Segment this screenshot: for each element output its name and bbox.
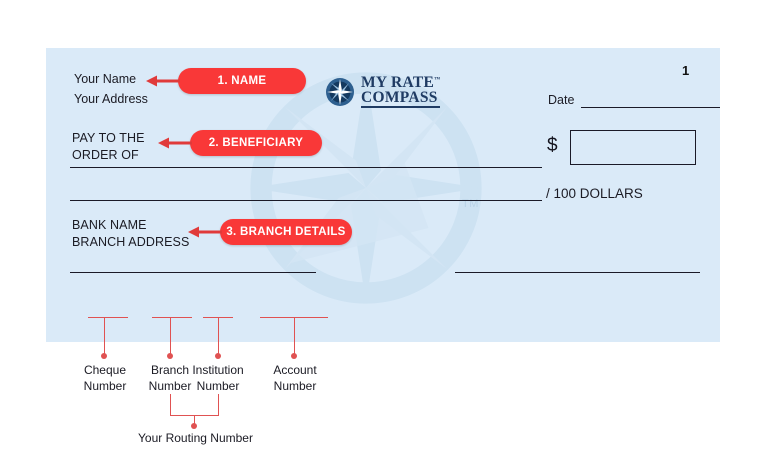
payer-address-label: Your Address [74, 92, 148, 106]
callout-beneficiary-arrow-icon [158, 136, 192, 148]
logo-tm-mark: ™ [434, 77, 440, 83]
routing-dot [191, 423, 197, 429]
payee-line [70, 167, 542, 168]
cents-dollars-label: / 100 DOLLARS [546, 186, 643, 201]
leader-underline-branch [152, 317, 192, 318]
pay-to-the-label: PAY TO THE [72, 131, 145, 145]
amount-box[interactable] [570, 130, 696, 165]
my-rate-compass-logo: MY RATE™ COMPASS [325, 75, 440, 108]
annotation-account-number-line2: Number [250, 378, 340, 394]
dollar-sign: $ [547, 135, 558, 157]
compass-rose-icon [325, 77, 355, 107]
screenshot-root: TM Your Name Your Address [0, 0, 768, 469]
leader-dot-branch [167, 353, 173, 359]
amount-words-line [70, 200, 542, 201]
payer-name-label: Your Name [74, 72, 136, 86]
branch-address-label: BRANCH ADDRESS [72, 235, 189, 249]
annotation-routing-number: Your Routing Number [138, 431, 253, 445]
leader-underline-cheque [88, 317, 128, 318]
logo-underline [361, 106, 440, 108]
logo-line-2: COMPASS [361, 90, 440, 105]
cheque-number: 1 [682, 63, 689, 78]
date-label: Date [548, 93, 574, 107]
leader-drop-branch [170, 317, 171, 355]
order-of-label: ORDER OF [72, 148, 139, 162]
cheque-image: TM Your Name Your Address [46, 48, 720, 342]
routing-bracket-left [170, 394, 171, 416]
leader-drop-cheque [104, 317, 105, 355]
callout-name-arrow-icon [146, 74, 180, 86]
bank-name-label: BANK NAME [72, 218, 147, 232]
annotation-account-number-line1: Account [250, 362, 340, 378]
leader-drop-institution [218, 317, 219, 355]
date-line [581, 107, 720, 108]
memo-line [70, 272, 316, 273]
leader-dot-institution [215, 353, 221, 359]
micr-line: 001 12345 [114, 337, 397, 342]
leader-dot-cheque [101, 353, 107, 359]
callout-name-badge[interactable]: 1. NAME [178, 68, 306, 94]
leader-drop-account [294, 317, 295, 355]
routing-bracket-right [218, 394, 219, 416]
signature-line [455, 272, 700, 273]
callout-branch-details-badge[interactable]: 3. BRANCH DETAILS [220, 219, 352, 245]
leader-dot-account [291, 353, 297, 359]
callout-beneficiary-badge[interactable]: 2. BENEFICIARY [190, 130, 322, 156]
callout-branch-details-arrow-icon [188, 225, 222, 237]
logo-line-1: MY RATE™ [361, 75, 440, 90]
annotation-account-number: Account Number [250, 362, 340, 394]
